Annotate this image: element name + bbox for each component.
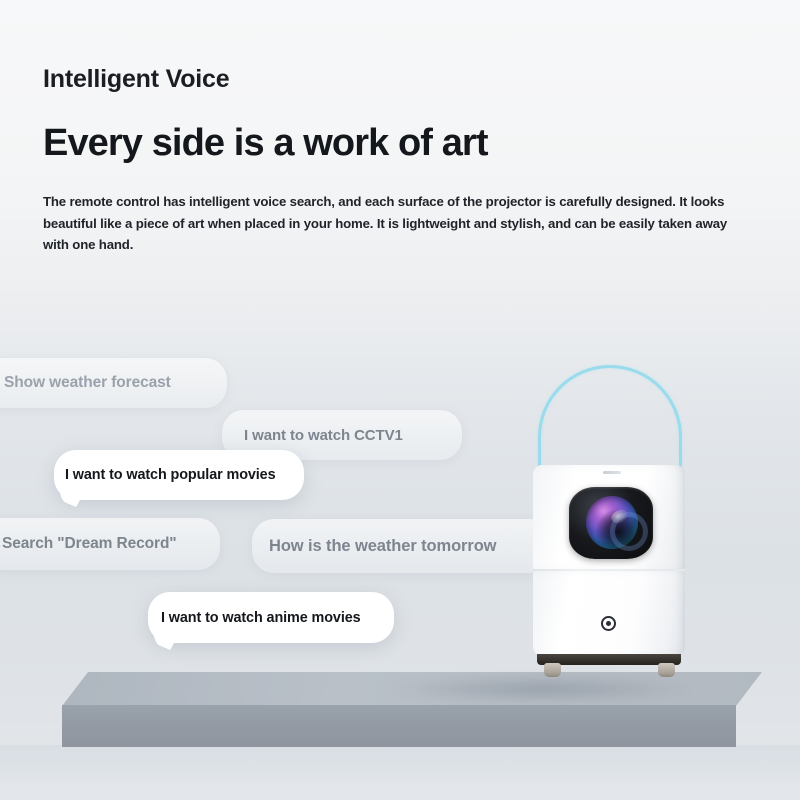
lens-bezel	[569, 487, 653, 559]
voice-bubble-popular-movies[interactable]: I want to watch popular movies	[54, 450, 304, 500]
foot-right	[658, 663, 675, 677]
vent-slot	[603, 471, 621, 474]
pedestal-front-face	[62, 705, 736, 747]
voice-bubble-dream-record[interactable]: Search "Dream Record"	[0, 518, 220, 570]
foot-left	[544, 663, 561, 677]
voice-bubble-weather-tomorrow[interactable]: How is the weather tomorrow	[252, 519, 552, 573]
voice-bubble-anime-movies[interactable]: I want to watch anime movies	[148, 592, 394, 643]
product-marketing-banner: Intelligent Voice Every side is a work o…	[0, 0, 800, 800]
projector-upper-body	[533, 465, 685, 570]
projector-lower-body	[533, 571, 685, 657]
carry-handle	[538, 365, 682, 473]
page-title: Every side is a work of art	[43, 123, 753, 165]
copy-block: Intelligent Voice Every side is a work o…	[43, 66, 753, 255]
projector-product-image	[520, 360, 700, 690]
brand-logo-icon	[601, 616, 616, 631]
lens-glass	[586, 496, 638, 549]
eyebrow-label: Intelligent Voice	[43, 66, 753, 94]
description-paragraph: The remote control has intelligent voice…	[43, 191, 743, 255]
voice-bubble-weather-forecast[interactable]: Show weather forecast	[0, 358, 227, 408]
